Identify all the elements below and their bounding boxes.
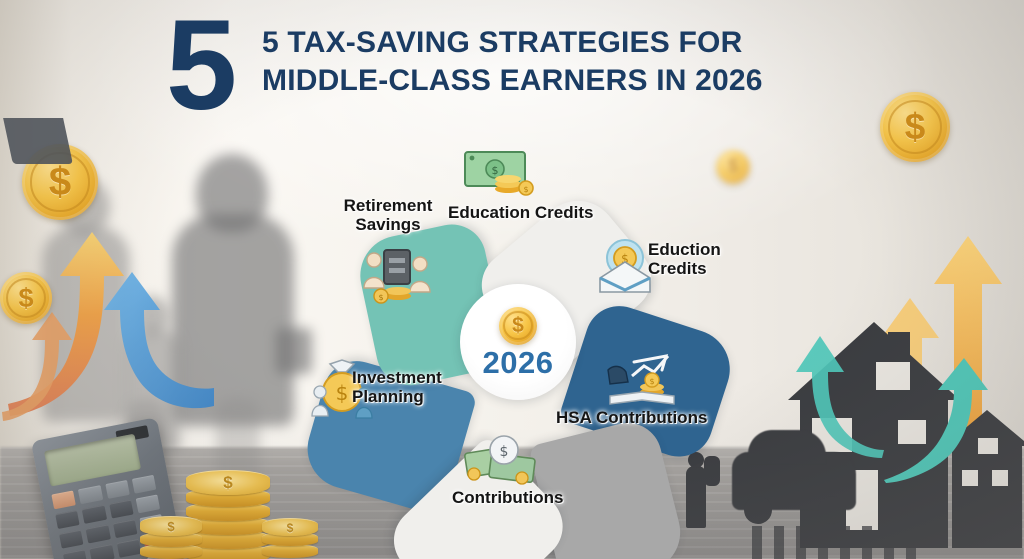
petal-label-education-credits: Education Credits [448,203,608,222]
svg-text:$: $ [336,381,349,405]
page-title-line2: MIDDLE-CLASS EARNERS IN 2026 [262,62,882,100]
teal-arrow-right-upper [880,356,990,484]
coin-stack-symbol: $ [223,473,232,493]
hub-coin-icon: $ [499,307,537,345]
growth-hand-icon: $ [604,350,680,413]
retirement-people-icon: $ [358,246,434,309]
svg-text:$: $ [500,444,509,460]
svg-text:$: $ [492,164,499,177]
pinwheel-hub: $ 2026 [460,284,576,400]
coin-stack-front: $ [140,512,202,559]
calculator-screen [44,434,141,487]
cash-bundle-icon: $ [464,434,536,491]
small-house-window-c [992,470,1008,486]
coin-symbol: $ [18,283,33,314]
page-title: 5 TAX-SAVING STRATEGIES FOR MIDDLE-CLASS… [262,24,882,101]
coin-envelope-icon: $ [596,238,654,299]
infographic-canvas: $ $ $ $ $ [0,0,1024,559]
fence-silhouette [752,526,922,559]
hub-coin-symbol: $ [512,314,524,338]
petal-label-investment-planning: Investment Planning [352,368,462,406]
coin-mid-left: $ [0,272,52,324]
svg-text:$: $ [378,293,383,302]
petal-label-contributions: Contributions [452,488,592,507]
coin-top-right: $ [880,92,950,162]
teal-arrow-right-lower [786,332,886,462]
calculator-stand [3,118,73,164]
blue-up-arrow-left [82,266,216,422]
headline-numeral: 5 [166,2,233,130]
petal-label-retirement-savings: Retirement Savings [336,196,440,234]
svg-text:$: $ [649,377,654,386]
svg-text:$: $ [523,185,528,194]
page-title-line1: 5 TAX-SAVING STRATEGIES FOR [262,24,882,62]
coin-symbol: $ [49,160,71,205]
petal-label-eduction-credits: Eduction Credits [648,240,748,278]
coin-symbol: $ [905,106,926,148]
banknote-coins-icon: $ $ [464,148,538,201]
hub-year-label: 2026 [483,347,554,378]
car-wheel-rear [818,496,846,524]
petal-label-hsa-contributions: HSA Contributions [556,408,726,427]
coin-stack-symbol: $ [167,519,174,534]
